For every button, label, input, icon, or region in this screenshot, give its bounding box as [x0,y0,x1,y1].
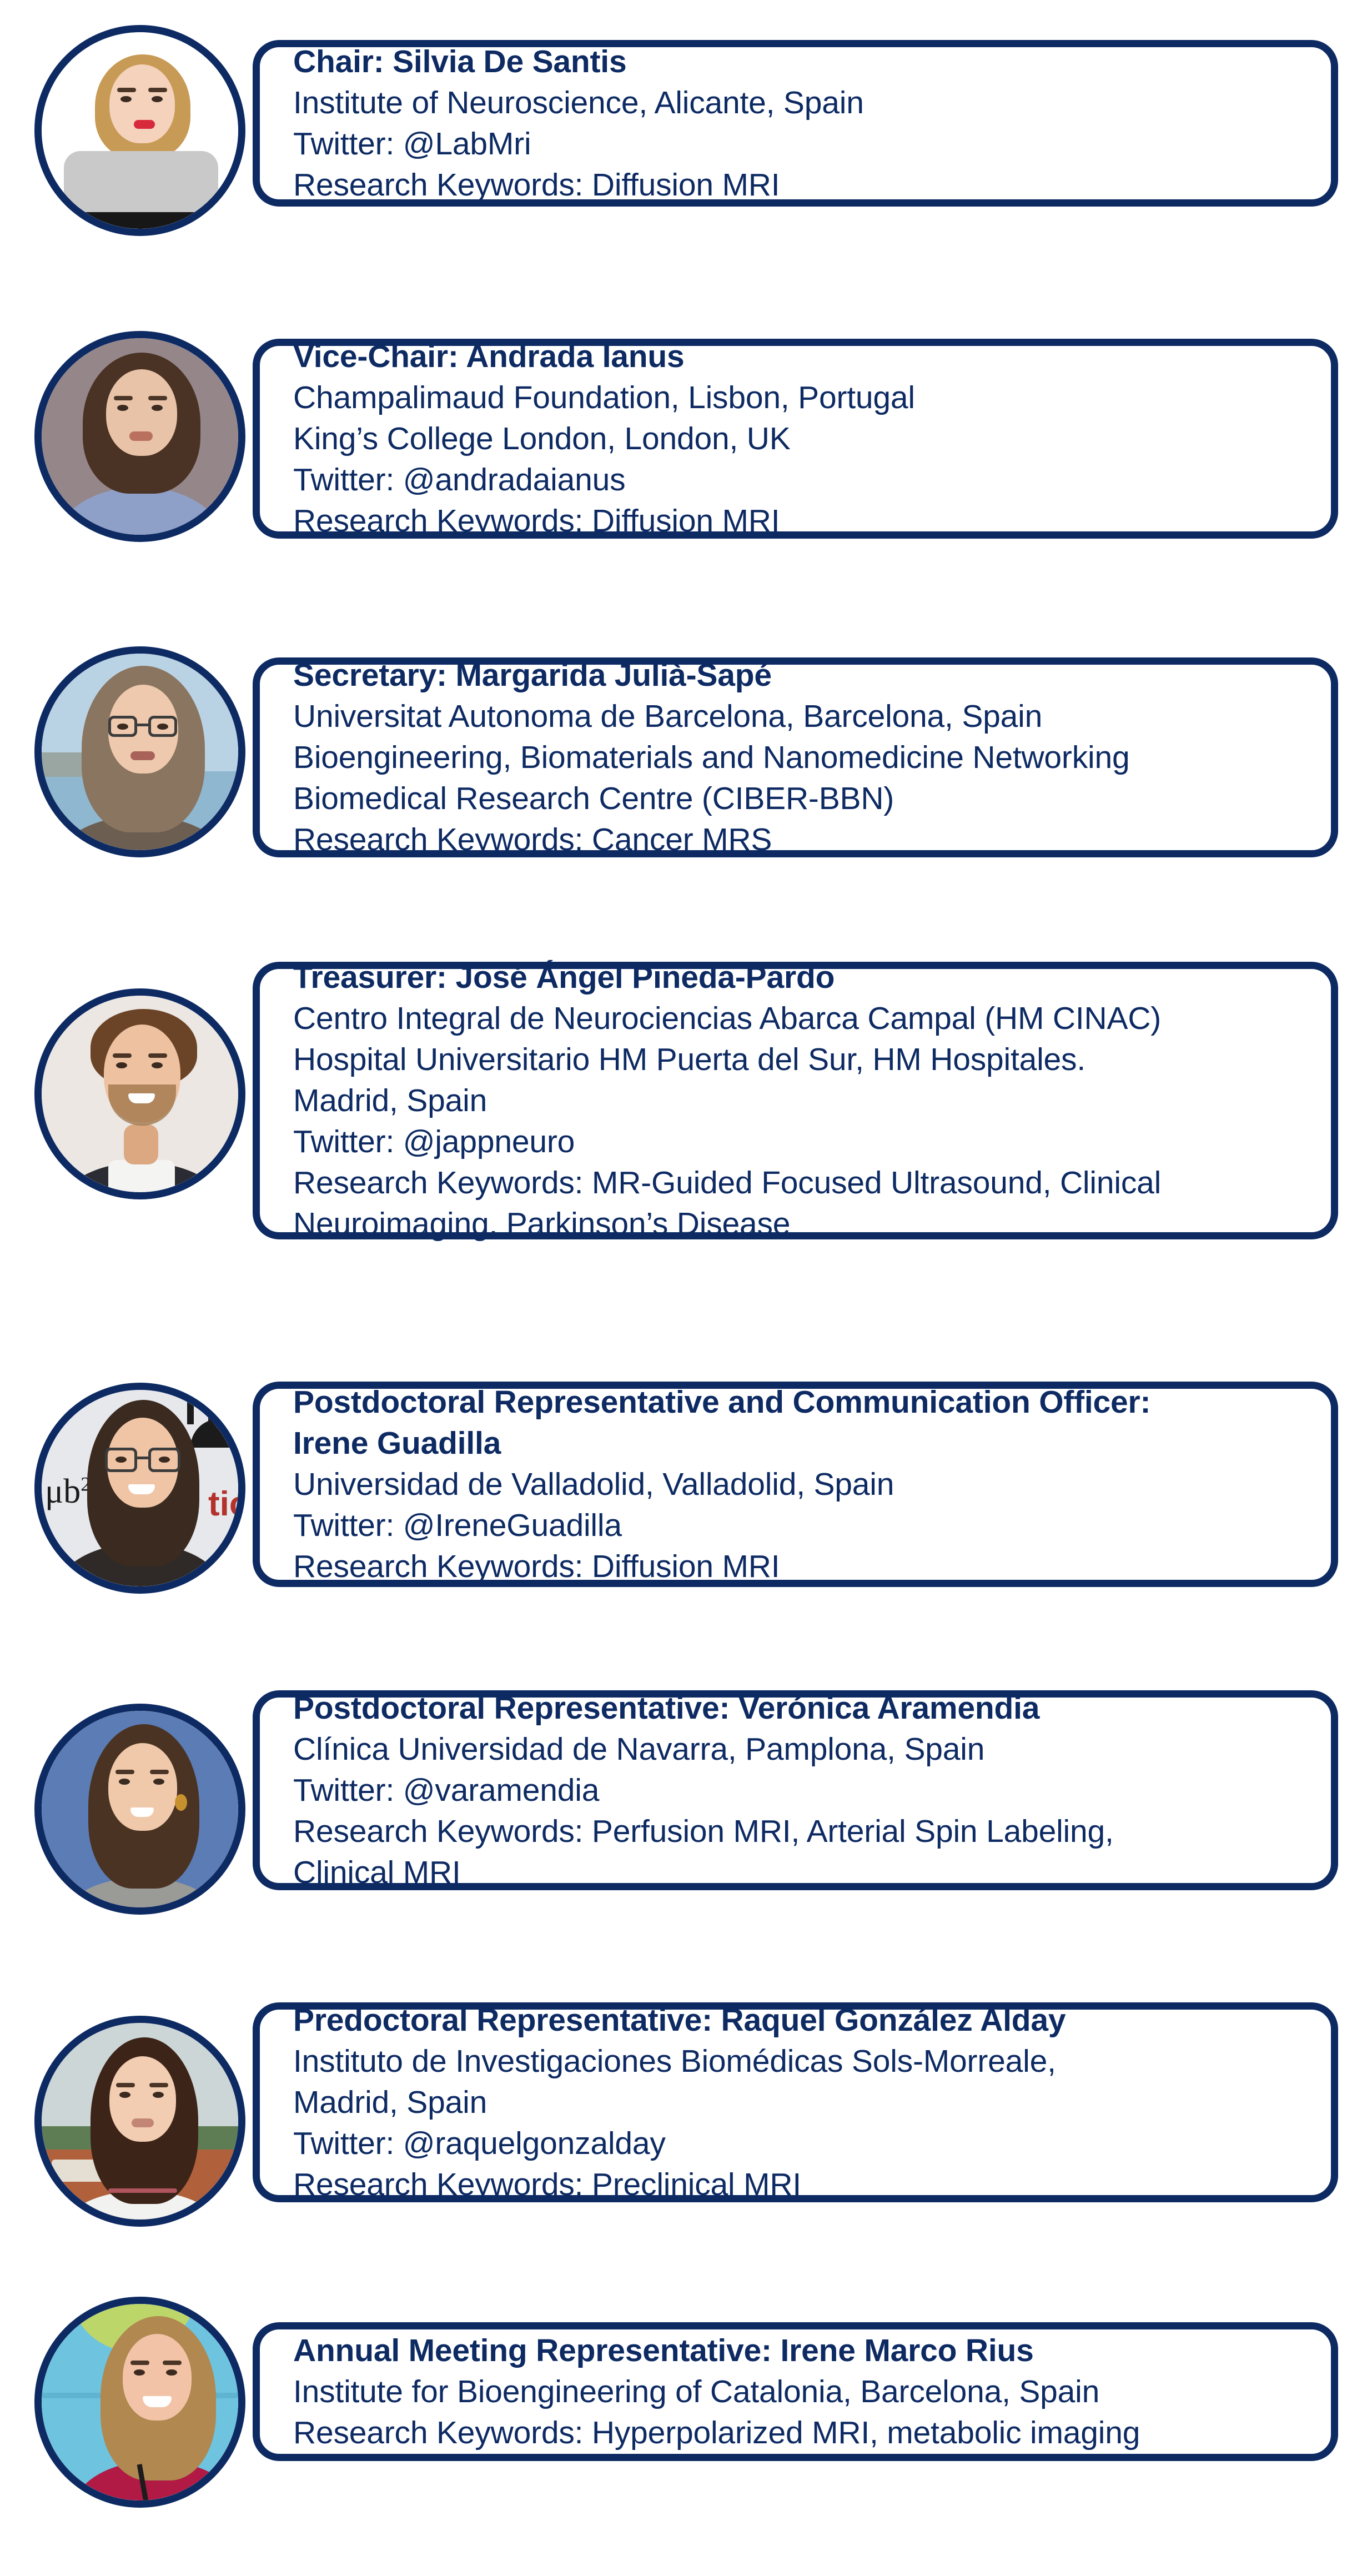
detail-line: King’s College London, London, UK [293,418,1306,459]
role-name-line: Postdoctoral Representative and Communic… [293,1382,1306,1423]
role-name-line: Secretary: Margarida Julià-Sapé [293,655,1306,696]
detail-line: Research Keywords: Cancer MRS [293,819,1306,860]
detail-line: Twitter: @LabMri [293,123,1306,164]
detail-line: Universitat Autonoma de Barcelona, Barce… [293,696,1306,737]
detail-line: Centro Integral de Neurociencias Abarca … [293,998,1306,1039]
card-postdoc-rep: Postdoctoral Representative: Verónica Ar… [253,1690,1338,1890]
card-chair: Chair: Silvia De Santis Institute of Neu… [253,40,1338,207]
detail-line: Twitter: @varamendia [293,1770,1306,1811]
member-row-chair: Chair: Silvia De Santis Institute of Neu… [0,11,1372,322]
detail-line: Clínica Universidad de Navarra, Pamplona… [293,1729,1306,1770]
detail-line: Institute for Bioengineering of Cataloni… [293,2371,1306,2412]
member-row-predoc-rep: Predoctoral Representative: Raquel Gonzá… [0,1982,1372,2293]
card-postdoc-rep-comms: Postdoctoral Representative and Communic… [253,1382,1338,1587]
detail-line: Research Keywords: Diffusion MRI [293,500,1306,541]
avatar-margarida-julia-sape [34,646,245,857]
member-row-postdoc-rep-comms: μb2 tion Postdoctoral Representative and… [0,1360,1372,1671]
detail-line: Twitter: @IreneGuadilla [293,1505,1306,1546]
avatar-veronica-aramendia [34,1704,245,1915]
detail-line: Madrid, Spain [293,1080,1306,1121]
detail-line: Twitter: @andradaianus [293,459,1306,500]
detail-line: Twitter: @jappneuro [293,1121,1306,1162]
member-row-annual-meeting-rep: Annual Meeting Representative: Irene Mar… [0,2293,1372,2571]
detail-line: Research Keywords: Hyperpolarized MRI, m… [293,2412,1306,2453]
whiteboard-red-text: tion [208,1484,238,1524]
detail-line: Hospital Universitario HM Puerta del Sur… [293,1039,1306,1080]
member-row-postdoc-rep: Postdoctoral Representative: Verónica Ar… [0,1671,1372,1982]
name-line: Irene Guadilla [293,1423,1306,1464]
detail-line: Research Keywords: Perfusion MRI, Arteri… [293,1811,1306,1852]
avatar-raquel-gonzalez-alday [34,2016,245,2227]
detail-line: Research Keywords: Diffusion MRI [293,164,1306,205]
detail-line: Research Keywords: MR-Guided Focused Ult… [293,1162,1306,1203]
avatar-jose-angel-pineda-pardo [34,988,245,1199]
avatar-silvia-de-santis [34,25,245,236]
avatar-irene-marco-rius [34,2297,245,2508]
detail-line: Instituto de Investigaciones Biomédicas … [293,2041,1306,2082]
role-name-line: Vice-Chair: Andrada Ianus [293,336,1306,377]
detail-line: Research Keywords: Diffusion MRI [293,1546,1306,1587]
member-row-vice-chair: Vice-Chair: Andrada Ianus Champalimaud F… [0,322,1372,633]
member-row-secretary: Secretary: Margarida Julià-Sapé Universi… [0,633,1372,950]
committee-member-list: Chair: Silvia De Santis Institute of Neu… [0,0,1372,2576]
avatar-irene-guadilla: μb2 tion [34,1383,245,1594]
detail-line: Neuroimaging, Parkinson’s Disease [293,1203,1306,1244]
card-vice-chair: Vice-Chair: Andrada Ianus Champalimaud F… [253,339,1338,539]
detail-line: Institute of Neuroscience, Alicante, Spa… [293,82,1306,123]
card-annual-meeting-rep: Annual Meeting Representative: Irene Mar… [253,2322,1338,2461]
member-row-treasurer: Treasurer: José Ángel Pineda-Pardo Centr… [0,950,1372,1360]
detail-line: Research Keywords: Preclinical MRI [293,2164,1306,2205]
card-treasurer: Treasurer: José Ángel Pineda-Pardo Centr… [253,962,1338,1239]
card-predoc-rep: Predoctoral Representative: Raquel Gonzá… [253,2002,1338,2202]
whiteboard-formula: μb2 [45,1472,91,1512]
card-secretary: Secretary: Margarida Julià-Sapé Universi… [253,657,1338,857]
detail-line: Biomedical Research Centre (CIBER-BBN) [293,778,1306,819]
role-name-line: Annual Meeting Representative: Irene Mar… [293,2330,1306,2371]
detail-line: Bioengineering, Biomaterials and Nanomed… [293,737,1306,778]
role-name-line: Postdoctoral Representative: Verónica Ar… [293,1688,1306,1729]
role-name-line: Treasurer: José Ángel Pineda-Pardo [293,957,1306,998]
detail-line: Universidad de Valladolid, Valladolid, S… [293,1464,1306,1505]
avatar-andrada-ianus [34,331,245,542]
role-name-line: Chair: Silvia De Santis [293,41,1306,82]
role-name-line: Predoctoral Representative: Raquel Gonzá… [293,2000,1306,2041]
detail-line: Champalimaud Foundation, Lisbon, Portuga… [293,377,1306,418]
detail-line: Twitter: @raquelgonzalday [293,2123,1306,2164]
detail-line: Clinical MRI [293,1852,1306,1893]
detail-line: Madrid, Spain [293,2082,1306,2123]
